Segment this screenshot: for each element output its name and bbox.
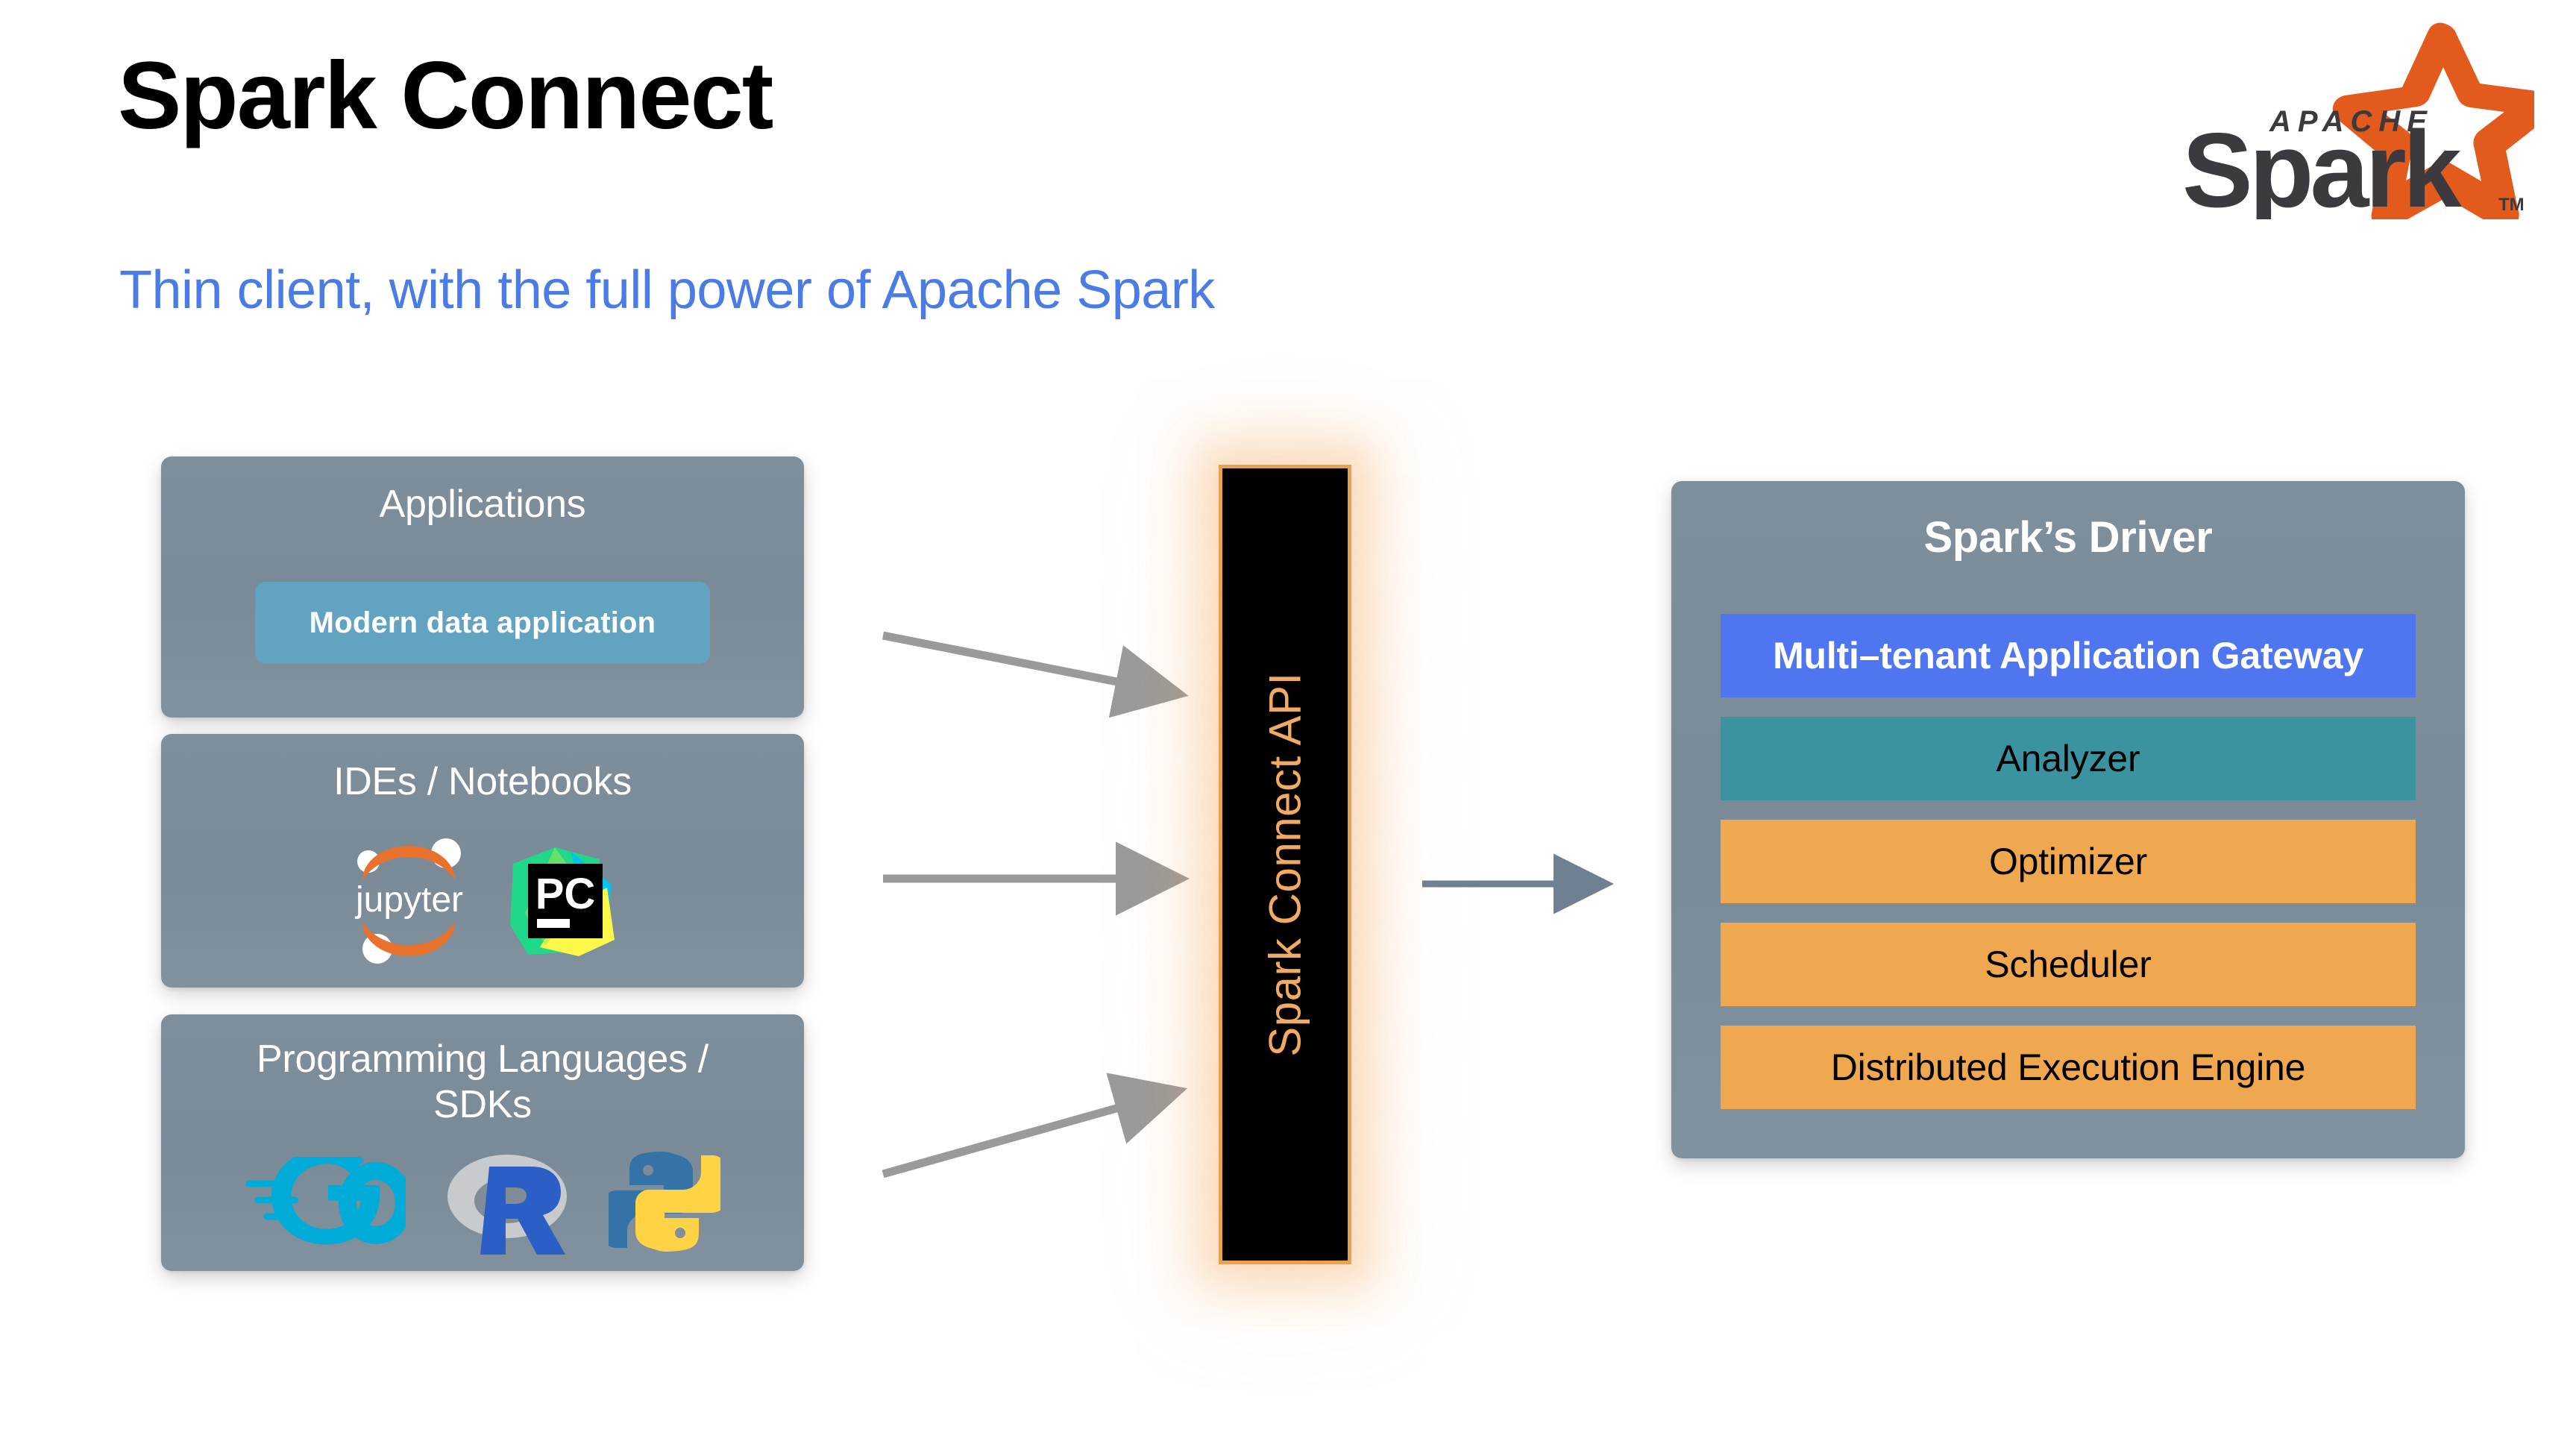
arrow-applications-to-api	[880, 619, 1163, 709]
driver-row-execution-engine[interactable]: Distributed Execution Engine	[1721, 1026, 2416, 1109]
driver-row-optimizer[interactable]: Optimizer	[1721, 820, 2416, 903]
driver-row-scheduler[interactable]: Scheduler	[1721, 923, 2416, 1006]
card-programming-languages-sdks-title: Programming Languages / SDKs	[161, 1037, 804, 1129]
card-ides-notebooks[interactable]: IDEs / Notebooks jupyter PC	[161, 734, 804, 988]
jupyter-logo: jupyter	[345, 837, 476, 965]
driver-row-gateway-label: Multi–tenant Application Gateway	[1773, 634, 2363, 677]
card-spark-driver-title: Spark’s Driver	[1671, 512, 2465, 563]
page-subtitle: Thin client, with the full power of Apac…	[119, 260, 1215, 321]
driver-row-analyzer-label: Analyzer	[1997, 737, 2140, 780]
driver-row-gateway[interactable]: Multi–tenant Application Gateway	[1721, 614, 2416, 697]
arrow-languages-to-api	[880, 1044, 1163, 1178]
jupyter-wordmark: jupyter	[354, 880, 463, 920]
arrow-ides-to-api	[880, 858, 1163, 903]
card-ides-notebooks-title: IDEs / Notebooks	[161, 759, 804, 805]
pycharm-underscore-icon	[537, 919, 570, 928]
svg-text:Spark: Spark	[2182, 111, 2463, 219]
driver-component-list: Multi–tenant Application Gateway Analyze…	[1721, 614, 2416, 1109]
modern-data-application-pill[interactable]: Modern data application	[255, 582, 710, 664]
svg-text:TM: TM	[2498, 195, 2525, 215]
driver-row-analyzer[interactable]: Analyzer	[1721, 717, 2416, 800]
go-logo	[245, 1157, 406, 1246]
arrow-api-to-driver	[1421, 861, 1592, 906]
pycharm-logo: PC	[509, 841, 621, 961]
pycharm-pc-text: PC	[535, 870, 596, 918]
card-applications[interactable]: Applications Modern data application	[161, 456, 804, 718]
ide-icon-row: jupyter PC	[161, 837, 804, 965]
r-logo	[442, 1146, 573, 1258]
card-programming-languages-sdks[interactable]: Programming Languages / SDKs	[161, 1014, 804, 1271]
driver-row-execution-engine-label: Distributed Execution Engine	[1831, 1046, 2305, 1089]
driver-row-optimizer-label: Optimizer	[1989, 840, 2147, 883]
spark-connect-api-bar[interactable]: Spark Connect API	[1219, 465, 1351, 1264]
python-logo	[609, 1146, 720, 1258]
page-title: Spark Connect	[118, 46, 772, 146]
spark-connect-api-label: Spark Connect API	[1260, 672, 1311, 1056]
apache-spark-logo: APACHE Spark TM	[2161, 18, 2534, 219]
card-applications-title: Applications	[161, 482, 804, 527]
card-spark-driver[interactable]: Spark’s Driver Multi–tenant Application …	[1671, 481, 2465, 1158]
slide-canvas: Spark Connect Thin client, with the full…	[0, 0, 2576, 1447]
driver-row-scheduler-label: Scheduler	[1985, 943, 2151, 986]
language-icon-row	[161, 1146, 804, 1258]
